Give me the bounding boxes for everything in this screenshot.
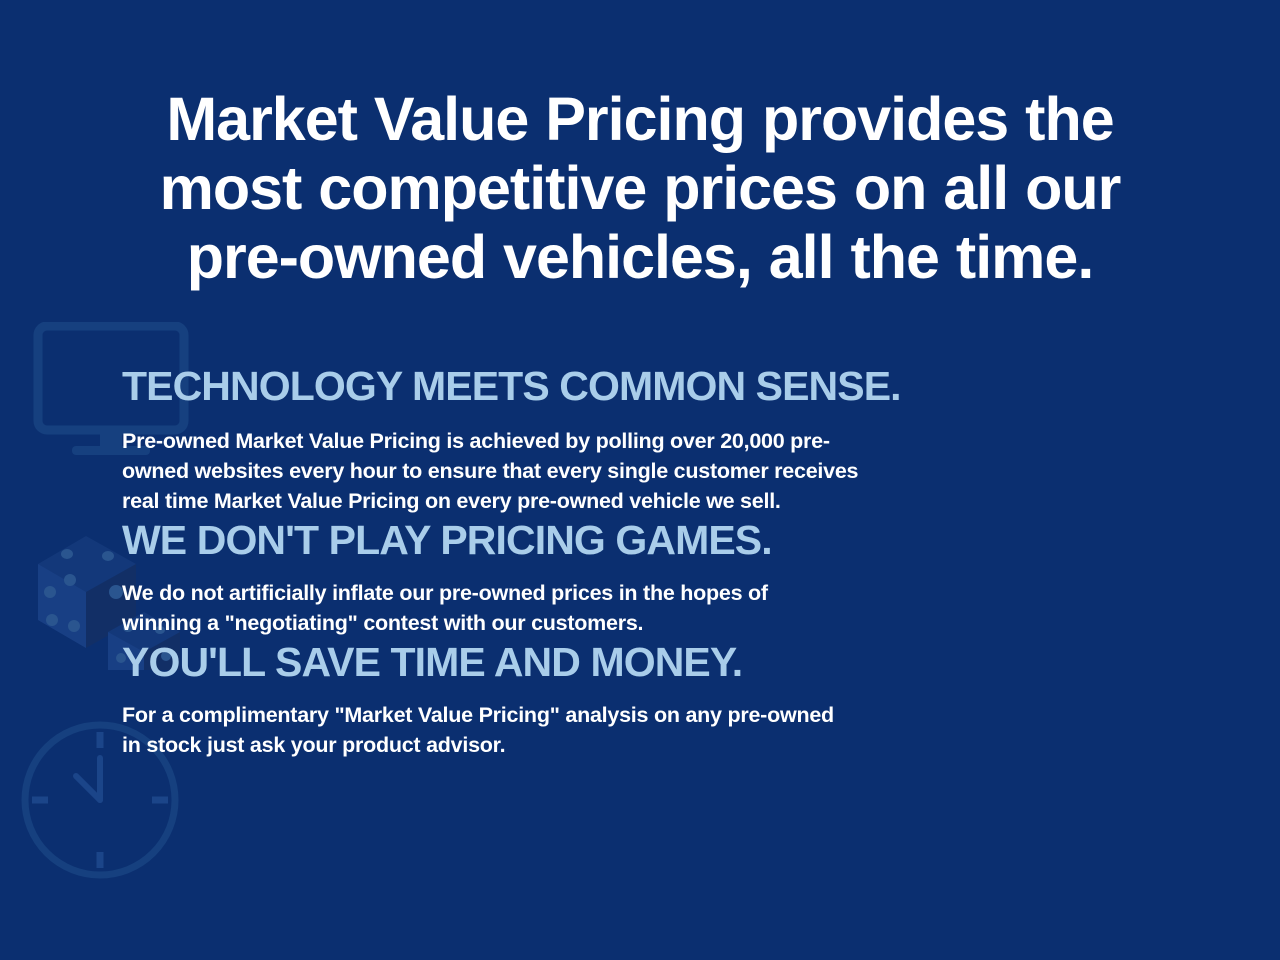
page-title: Market Value Pricing provides the most c… xyxy=(0,85,1280,292)
body-line: We do not artificially inflate our pre-o… xyxy=(122,578,1122,608)
section-body-save-time-money: For a complimentary "Market Value Pricin… xyxy=(122,700,1122,760)
headline-line-2: most competitive prices on all our xyxy=(0,154,1280,223)
slide-canvas: Market Value Pricing provides the most c… xyxy=(0,0,1280,960)
section-pricing-games: WE DON'T PLAY PRICING GAMES. We do not a… xyxy=(122,516,1122,638)
section-heading-technology: TECHNOLOGY MEETS COMMON SENSE. xyxy=(122,362,1122,410)
section-body-technology: Pre-owned Market Value Pricing is achiev… xyxy=(122,426,1122,516)
section-technology: TECHNOLOGY MEETS COMMON SENSE. Pre-owned… xyxy=(122,362,1122,516)
section-heading-save-time-money: YOU'LL SAVE TIME AND MONEY. xyxy=(122,638,1122,686)
body-line: winning a "negotiating" contest with our… xyxy=(122,608,1122,638)
body-line: in stock just ask your product advisor. xyxy=(122,730,1122,760)
section-heading-pricing-games: WE DON'T PLAY PRICING GAMES. xyxy=(122,516,1122,564)
headline-line-3: pre-owned vehicles, all the time. xyxy=(0,223,1280,292)
body-line: Pre-owned Market Value Pricing is achiev… xyxy=(122,426,1122,456)
body-line: owned websites every hour to ensure that… xyxy=(122,456,1122,486)
section-save-time-money: YOU'LL SAVE TIME AND MONEY. For a compli… xyxy=(122,638,1122,760)
body-line: real time Market Value Pricing on every … xyxy=(122,486,1122,516)
section-body-pricing-games: We do not artificially inflate our pre-o… xyxy=(122,578,1122,638)
headline-line-1: Market Value Pricing provides the xyxy=(0,85,1280,154)
body-line: For a complimentary "Market Value Pricin… xyxy=(122,700,1122,730)
sections-list: TECHNOLOGY MEETS COMMON SENSE. Pre-owned… xyxy=(122,362,1122,760)
